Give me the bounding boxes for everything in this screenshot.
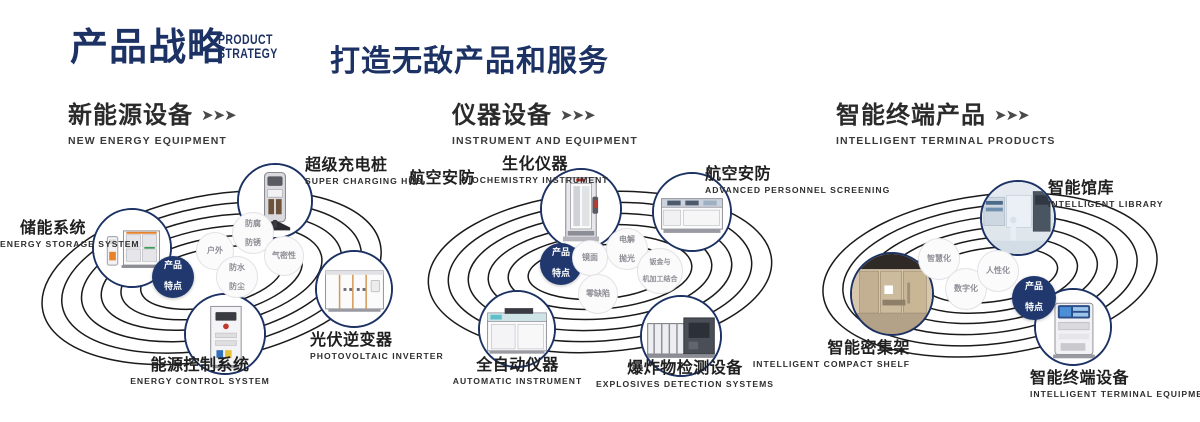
page-headline: 打造无敌产品和服务: [330, 36, 609, 80]
node-label-energy-control: 能源控制系统 ENERGY CONTROL SYSTEM: [80, 355, 320, 387]
cluster-new-energy: 储能系统 ENERGY STORAGE SYSTEM 超级充电桩 SUPER C…: [0, 150, 420, 410]
feature-bubble-humanized[interactable]: 人性化: [977, 250, 1019, 292]
feature-bubble-mirror[interactable]: 镜面: [572, 240, 608, 276]
node-intelligent-library[interactable]: [980, 180, 1056, 256]
page-header: 产品战略 PRODUCT STRATEGY 打造无敌产品和服务: [0, 0, 1200, 90]
pv-inverter-icon: [317, 252, 391, 326]
node-label-intelligent-library: 智能馆库 INTELLIGENT LIBRARY: [1048, 178, 1164, 210]
feature-bubble-core[interactable]: 产品特点: [152, 256, 194, 298]
feature-bubble-airtight[interactable]: 气密性: [264, 236, 304, 276]
page-title-en: PRODUCT STRATEGY: [218, 33, 278, 61]
page-title-en-line1: PRODUCT: [218, 33, 278, 47]
section-title-cn: 智能终端产品➤➤➤: [836, 95, 1056, 130]
section-title-cn: 仪器设备➤➤➤: [452, 95, 638, 130]
section-header-instrument: 仪器设备➤➤➤ INSTRUMENT AND EQUIPMENT: [452, 95, 638, 147]
node-label-biochemistry: 生化仪器 BIOCHEMISTRY INSTRUMENT: [460, 154, 610, 186]
node-pv-inverter[interactable]: [315, 250, 393, 328]
page-title: 产品战略: [70, 28, 226, 66]
node-label-compact-shelf: 智能密集架 INTELLIGENT COMPACT SHELF: [720, 338, 910, 370]
node-label-terminal-equipment: 智能终端设备 INTELLIGENT TERMINAL EQUIPMENT: [1030, 368, 1200, 400]
feature-bubble-sheetmetal[interactable]: 钣金与机加工结合: [637, 248, 683, 294]
node-label-energy-storage: 储能系统 ENERGY STORAGE SYSTEM: [0, 218, 86, 250]
feature-bubble-waterproof[interactable]: 防水防尘: [216, 256, 258, 298]
feature-bubble-core[interactable]: 产品特点: [1012, 276, 1056, 320]
chevron-right-icon: ➤➤➤: [994, 106, 1029, 124]
chevron-right-icon: ➤➤➤: [201, 106, 236, 124]
section-header-intelligent: 智能终端产品➤➤➤ INTELLIGENT TERMINAL PRODUCTS: [836, 95, 1056, 147]
feature-bubble-zerodefect[interactable]: 零缺陷: [578, 274, 618, 314]
node-label-aviation-left: 航空安防: [395, 168, 475, 187]
chevron-right-icon: ➤➤➤: [560, 106, 595, 124]
page-title-en-line2: STRATEGY: [218, 47, 278, 61]
section-title-en: NEW ENERGY EQUIPMENT: [68, 135, 236, 147]
cluster-instrument: 生化仪器 BIOCHEMISTRY INSTRUMENT 航空安防 航空安防 A…: [400, 150, 820, 410]
product-strategy-infographic: 产品战略 PRODUCT STRATEGY 打造无敌产品和服务 新能源设备➤➤➤…: [0, 0, 1200, 422]
section-title-en: INTELLIGENT TERMINAL PRODUCTS: [836, 135, 1056, 147]
section-title-cn: 新能源设备➤➤➤: [68, 95, 236, 130]
section-header-new-energy: 新能源设备➤➤➤ NEW ENERGY EQUIPMENT: [68, 95, 236, 147]
intelligent-library-icon: [982, 182, 1054, 254]
section-title-en: INSTRUMENT AND EQUIPMENT: [452, 135, 638, 147]
cluster-intelligent: 智能馆库 INTELLIGENT LIBRARY 智能密集架 INTELLIGE…: [790, 150, 1200, 410]
